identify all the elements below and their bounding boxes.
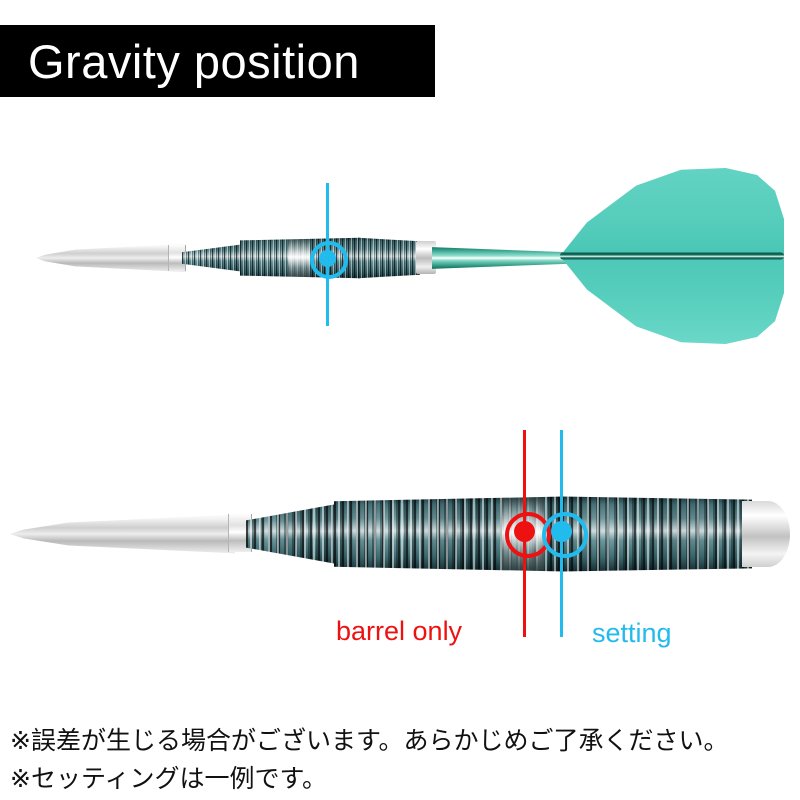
product-diagram-page: Gravity position bbox=[0, 0, 800, 800]
barrel-ring-highlights bbox=[246, 500, 336, 568]
barrel-ring-highlights bbox=[358, 236, 420, 280]
full-setup-dart bbox=[0, 0, 800, 400]
dart-point-bottom bbox=[10, 512, 235, 556]
point-needle-icon bbox=[10, 512, 235, 556]
dart-barrel-top bbox=[182, 240, 242, 276]
dart-point-top bbox=[36, 242, 186, 274]
barrel-ring-highlights bbox=[562, 495, 752, 573]
footnote-line-1: ※誤差が生じる場合がございます。あらかじめご了承ください。 bbox=[10, 722, 790, 760]
gravity-marker-dot-barrel-only bbox=[514, 521, 535, 542]
gravity-marker-dot-setting-top bbox=[319, 250, 336, 267]
flight-lower-wing bbox=[560, 256, 784, 344]
label-barrel-only: barrel only bbox=[336, 618, 462, 645]
dart-shaft-top bbox=[432, 245, 570, 271]
gravity-marker-dot-setting-bottom bbox=[551, 521, 572, 542]
flight-upper-wing bbox=[560, 168, 784, 256]
dart-barrel-bottom-front bbox=[246, 500, 336, 568]
dart-flight-top bbox=[560, 168, 784, 344]
barrel-cut-band bbox=[288, 236, 310, 280]
dart-barrel-bottom-rear bbox=[562, 495, 752, 573]
barrel-rear-cap bbox=[742, 501, 790, 567]
dart-point-collar-top bbox=[168, 245, 184, 271]
flight-spine bbox=[560, 253, 784, 260]
dart-barrel-top-rear bbox=[358, 236, 420, 280]
footnotes: ※誤差が生じる場合がございます。あらかじめご了承ください。 ※セッティングは一例… bbox=[10, 722, 790, 798]
point-needle-icon bbox=[36, 242, 186, 274]
footnote-line-2: ※セッティングは一例です。 bbox=[10, 760, 790, 798]
barrel-ring-highlights bbox=[182, 240, 242, 276]
label-setting: setting bbox=[592, 620, 672, 647]
